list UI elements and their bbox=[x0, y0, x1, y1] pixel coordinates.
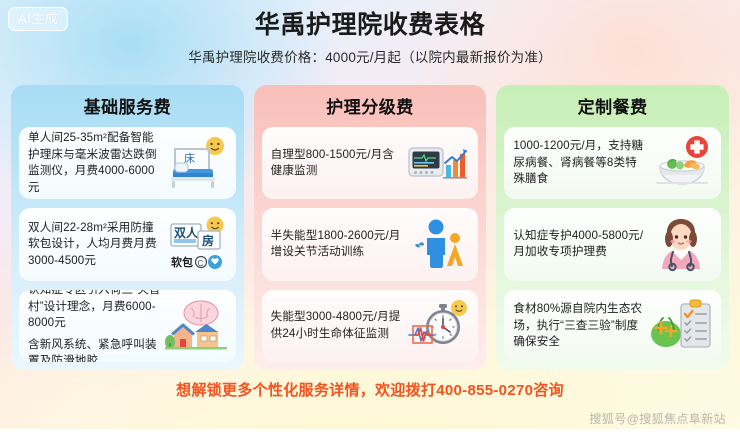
card-text: 半失能型1800-2600元/月增设关节活动训练 bbox=[271, 228, 404, 261]
card-text-line1: 食材80%源自院内生态农场，执行“三查三验”制度确保安全 bbox=[513, 302, 642, 348]
column-heading: 护理分级费 bbox=[262, 93, 479, 127]
card-list: 自理型800-1500元/月含健康监测 bbox=[262, 127, 479, 362]
stopwatch-vitals-icon bbox=[407, 298, 469, 354]
column-nursing-grade-fee: 护理分级费 自理型800-1500元/月含健康监测 bbox=[254, 85, 487, 370]
svg-text:软包: 软包 bbox=[171, 255, 193, 269]
card-self-care-level[interactable]: 自理型800-1500元/月含健康监测 bbox=[262, 127, 479, 199]
card-text-line1: 半失能型1800-2600元/月增设关节活动训练 bbox=[271, 229, 401, 259]
card-list: 单人间25-35m²配备智能护理床与毫米波雷达跌倒监测仪，月费4000-6000… bbox=[19, 127, 236, 362]
poster-header: 华禹护理院收费表格 华禹护理院收费价格：4000元/月起（以院内最新报价为准） bbox=[0, 0, 740, 66]
card-double-room[interactable]: 双人间22-28m²采用防撞软包设计，人均月费月费3000-4500元 双人 bbox=[19, 208, 236, 280]
page-title: 华禹护理院收费表格 bbox=[0, 10, 740, 40]
card-text-line2: 含新风系统、紧急呼叫装置及防滑地胶 bbox=[28, 337, 161, 362]
column-basic-service-fee: 基础服务费 单人间25-35m²配备智能护理床与毫米波雷达跌倒监测仪，月费400… bbox=[11, 85, 244, 370]
double-room-icon: 双人 房 软包 C bbox=[165, 216, 227, 272]
svg-text:房: 房 bbox=[202, 233, 214, 248]
brain-house-icon bbox=[165, 298, 227, 354]
column-heading: 基础服务费 bbox=[19, 93, 236, 127]
bottom-white-strip bbox=[0, 429, 740, 439]
card-ingredient-source[interactable]: 食材80%源自院内生态农场，执行“三查三验”制度确保安全 bbox=[504, 290, 721, 362]
person-mobility-icon bbox=[407, 216, 469, 272]
card-dementia-specialist-care[interactable]: 认知症专护4000-5800元/月加收专项护理费 bbox=[504, 208, 721, 280]
card-text: 认知症专区引入荷兰“失智村”设计理念，月费6000-8000元 含新风系统、紧急… bbox=[28, 290, 161, 362]
watermark: 搜狐号@搜狐焦点阜新站 bbox=[589, 412, 726, 427]
card-text-line1: 1000-1200元/月，支持糖尿病餐、肾病餐等8类特殊膳食 bbox=[513, 139, 643, 185]
ai-generated-badge: AI生成 bbox=[8, 7, 68, 31]
card-special-diet[interactable]: 1000-1200元/月，支持糖尿病餐、肾病餐等8类特殊膳食 bbox=[504, 127, 721, 199]
card-text: 双人间22-28m²采用防撞软包设计，人均月费月费3000-4500元 bbox=[28, 220, 161, 270]
card-dementia-zone[interactable]: 认知症专区引入荷兰“失智村”设计理念，月费6000-8000元 含新风系统、紧急… bbox=[19, 290, 236, 362]
svg-text:双人: 双人 bbox=[174, 225, 199, 240]
card-text-line1: 自理型800-1500元/月含健康监测 bbox=[271, 148, 394, 178]
card-text-line1: 认知症专区引入荷兰“失智村”设计理念，月费6000-8000元 bbox=[28, 290, 161, 329]
monitor-chart-icon bbox=[407, 135, 469, 191]
card-disabled-level[interactable]: 失能型3000-4800元/月提供24小时生命体征监测 bbox=[262, 290, 479, 362]
card-list: 1000-1200元/月，支持糖尿病餐、肾病餐等8类特殊膳食 bbox=[504, 127, 721, 362]
bed-icon: 床 bbox=[165, 135, 227, 191]
card-text: 失能型3000-4800元/月提供24小时生命体征监测 bbox=[271, 309, 404, 342]
card-text-line1: 认知症专护4000-5800元/月加收专项护理费 bbox=[513, 229, 643, 259]
card-text-line1: 单人间25-35m²配备智能护理床与毫米波雷达跌倒监测仪，月费4000-6000… bbox=[28, 131, 157, 194]
page-subtitle: 华禹护理院收费价格：4000元/月起（以院内最新报价为准） bbox=[0, 49, 740, 66]
card-text: 自理型800-1500元/月含健康监测 bbox=[271, 147, 404, 180]
card-text: 认知症专护4000-5800元/月加收专项护理费 bbox=[513, 228, 646, 261]
card-text-line1: 失能型3000-4800元/月提供24小时生命体征监测 bbox=[271, 310, 401, 340]
card-single-room[interactable]: 单人间25-35m²配备智能护理床与毫米波雷达跌倒监测仪，月费4000-6000… bbox=[19, 127, 236, 199]
farm-checklist-icon bbox=[650, 298, 712, 354]
card-text: 食材80%源自院内生态农场，执行“三查三验”制度确保安全 bbox=[513, 301, 646, 351]
card-semi-disabled-level[interactable]: 半失能型1800-2600元/月增设关节活动训练 bbox=[262, 208, 479, 280]
medical-meal-icon bbox=[650, 135, 712, 191]
poster-canvas: AI生成 华禹护理院收费表格 华禹护理院收费价格：4000元/月起（以院内最新报… bbox=[0, 0, 740, 439]
card-text: 单人间25-35m²配备智能护理床与毫米波雷达跌倒监测仪，月费4000-6000… bbox=[28, 130, 161, 196]
nurse-icon bbox=[650, 216, 712, 272]
card-text: 1000-1200元/月，支持糖尿病餐、肾病餐等8类特殊膳食 bbox=[513, 138, 646, 188]
column-heading: 定制餐费 bbox=[504, 93, 721, 127]
column-custom-meal-fee: 定制餐费 1000-1200元/月，支持糖尿病餐、肾病餐等8类特殊膳食 bbox=[496, 85, 729, 370]
card-text-line1: 双人间22-28m²采用防撞软包设计，人均月费月费3000-4500元 bbox=[28, 221, 157, 267]
fee-columns: 基础服务费 单人间25-35m²配备智能护理床与毫米波雷达跌倒监测仪，月费400… bbox=[11, 85, 729, 370]
svg-text:C: C bbox=[197, 259, 203, 268]
contact-cta: 想解锁更多个性化服务详情，欢迎拨打400-855-0270咨询 bbox=[0, 381, 740, 401]
